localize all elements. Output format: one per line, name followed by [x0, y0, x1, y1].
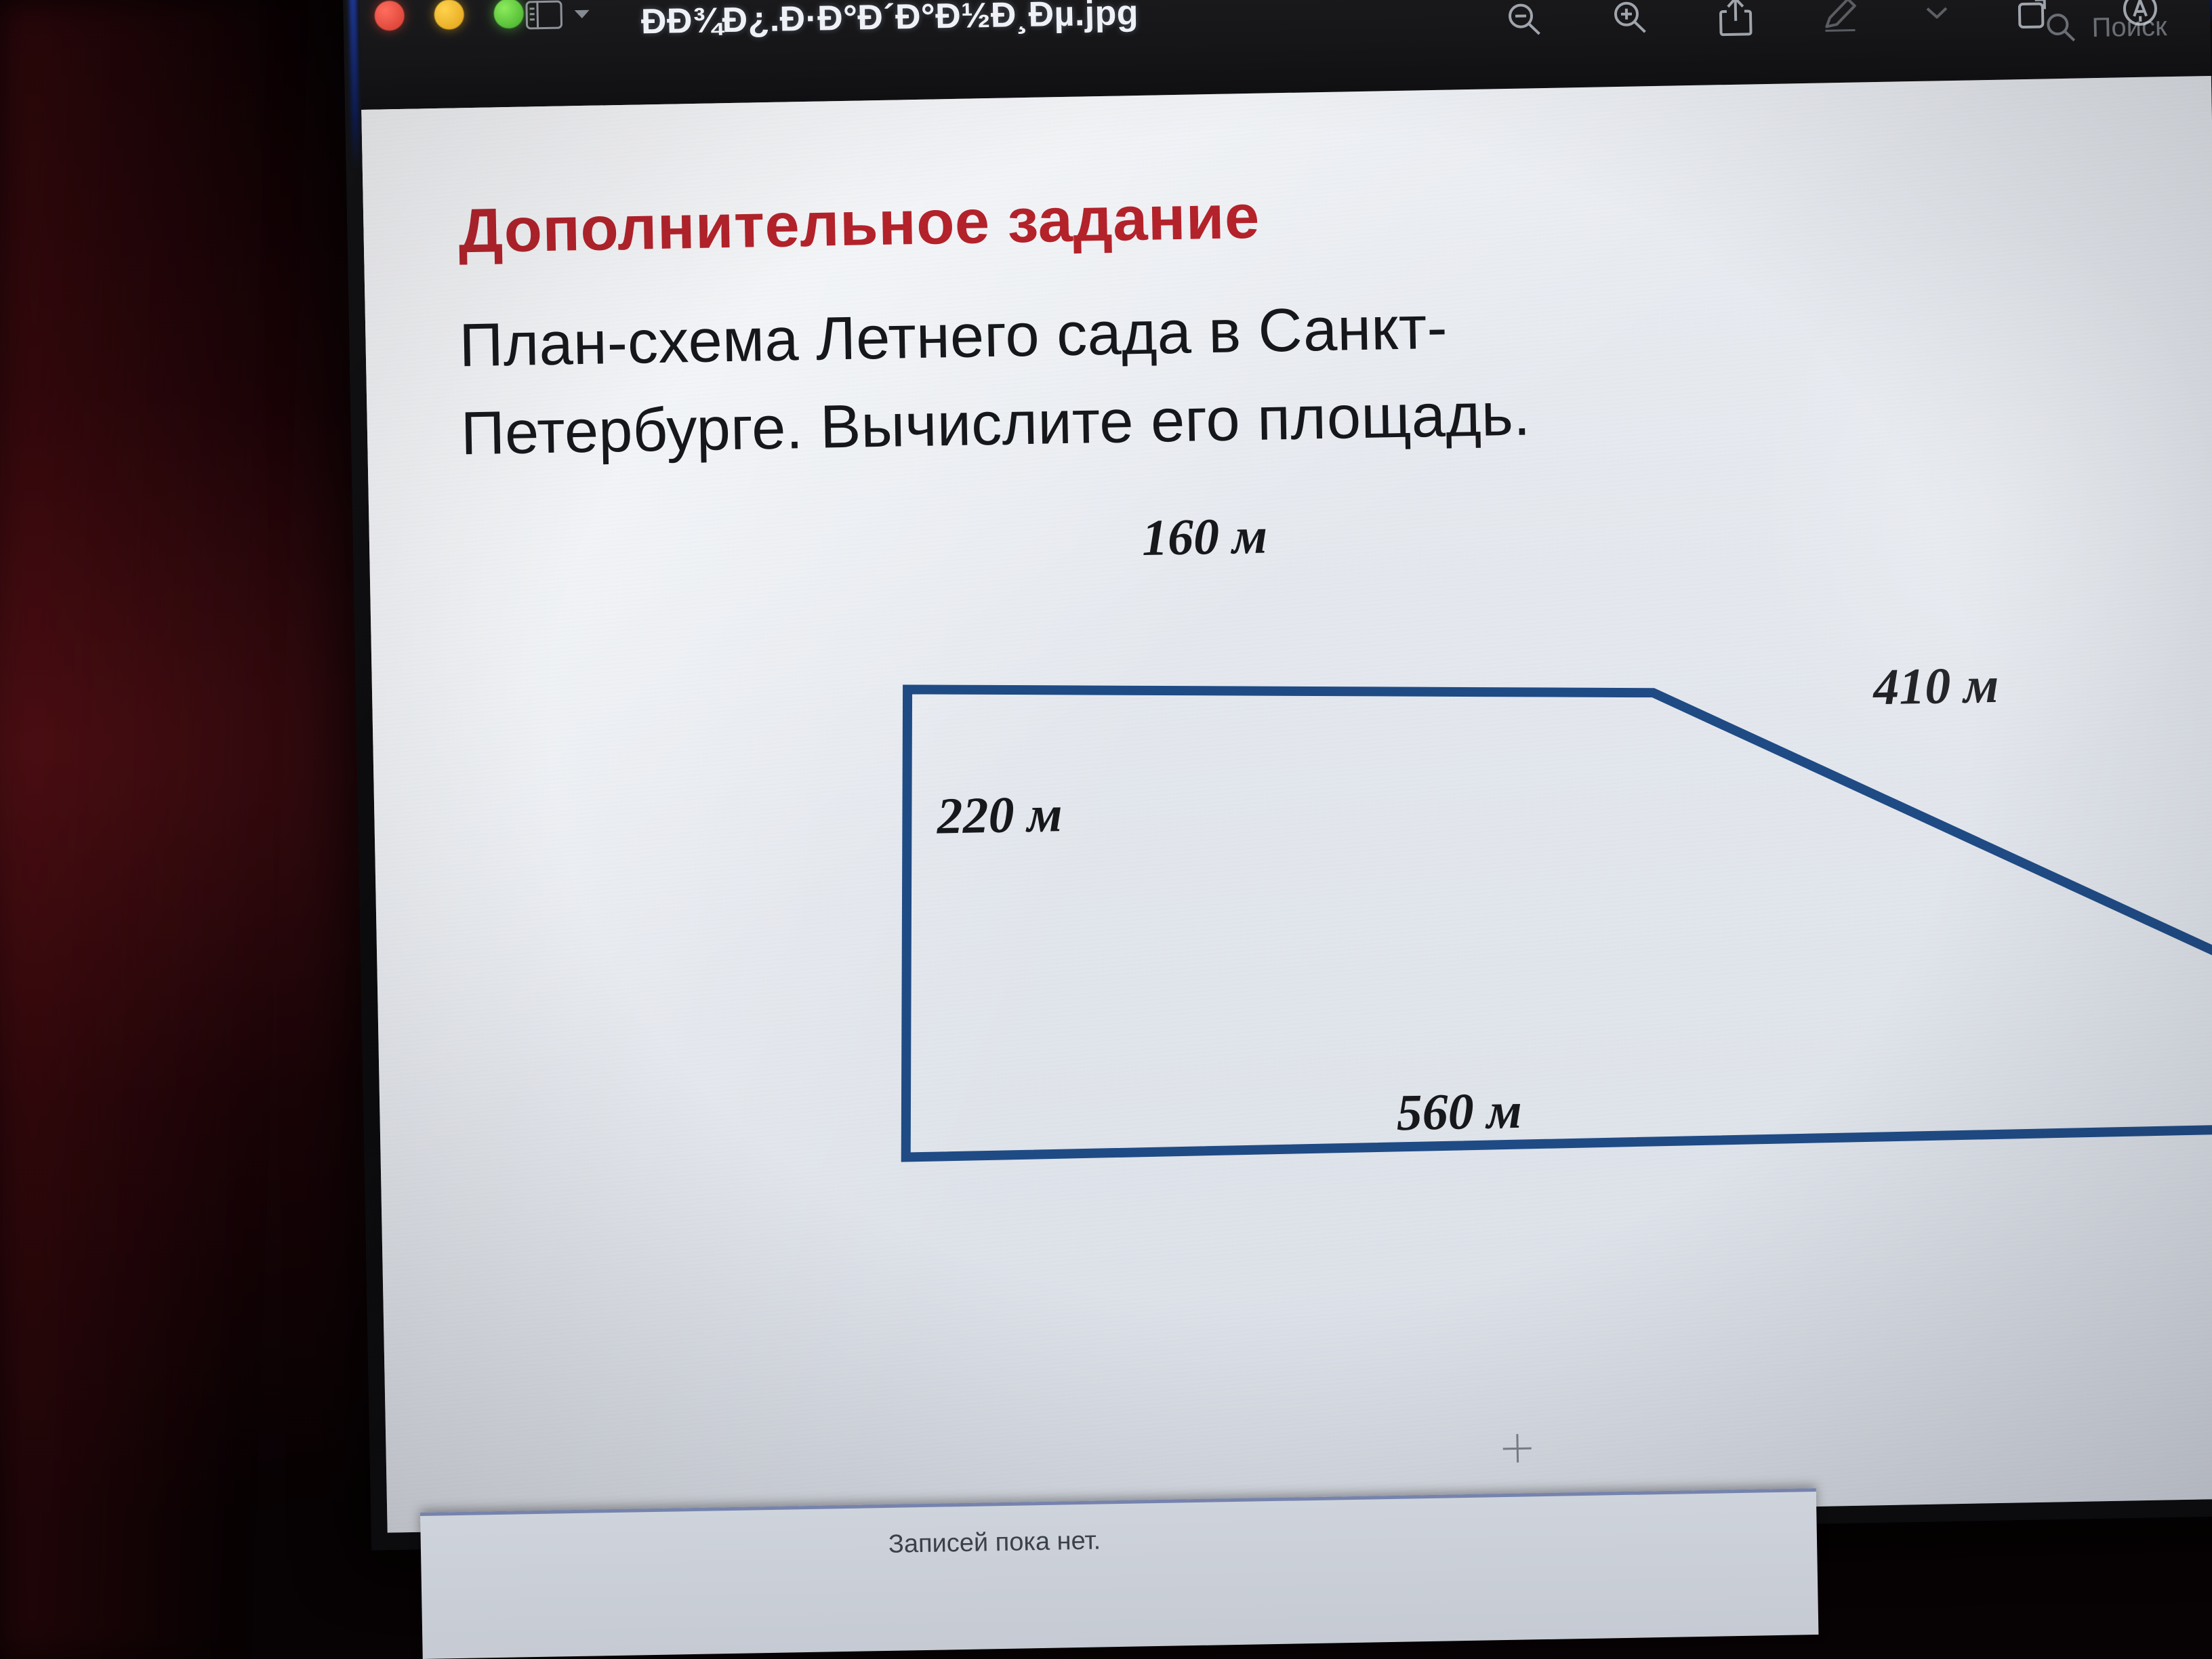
task-body-line-2: Петербурге. Вычислите его площадь. [460, 380, 1531, 469]
crosshair-cursor [1502, 1434, 1532, 1463]
minimize-button[interactable] [434, 0, 464, 30]
close-button[interactable] [374, 1, 405, 31]
task-body-line-1: План-схема Летнего сада в Санкт- [459, 293, 1448, 382]
plot-polygon-svg [372, 642, 2212, 1479]
search-placeholder: Поиск [2091, 12, 2167, 43]
background-window-empty-note: Записей пока нет. [888, 1526, 1101, 1559]
share-icon[interactable] [1717, 0, 1755, 37]
chevron-down-icon[interactable] [575, 10, 590, 18]
markup-icon[interactable] [1821, 0, 1860, 33]
sidebar-toggle-button[interactable] [525, 0, 590, 29]
preview-window: ÐÐ¾Ð¿.Ð·Ð°Ð´Ð°Ð½Ð¸Ðµ.jpg [359, 0, 2212, 1533]
plot-diagram: 160 м 410 м 220 м 130 м 560 м [372, 645, 2212, 1479]
desk-light-sheen [0, 0, 352, 1659]
task-heading: Дополнительное задание [458, 182, 1261, 268]
plot-polygon [897, 665, 2212, 1157]
traffic-light-buttons[interactable] [374, 0, 524, 31]
dimension-label-top: 160 м [1141, 507, 1268, 568]
zoom-out-icon[interactable] [1505, 0, 1545, 40]
maximize-button[interactable] [493, 0, 524, 28]
search-icon [2044, 11, 2077, 47]
markup-chevron-icon[interactable] [1925, 5, 1948, 20]
background-window[interactable]: Записей пока нет. [420, 1488, 1818, 1659]
dimension-label-bottom: 560 м [1396, 1082, 1523, 1143]
zoom-in-icon[interactable] [1611, 0, 1651, 38]
dimension-label-left: 220 м [937, 785, 1063, 846]
search-field[interactable]: Поиск [2044, 9, 2167, 47]
document-canvas: Дополнительное задание План-схема Летнег… [361, 76, 2212, 1533]
document-title: ÐÐ¾Ð¿.Ð·Ð°Ð´Ð°Ð½Ð¸Ðµ.jpg [640, 0, 1139, 42]
sidebar-icon [525, 1, 562, 30]
dimension-label-slant: 410 м [1872, 656, 1999, 717]
